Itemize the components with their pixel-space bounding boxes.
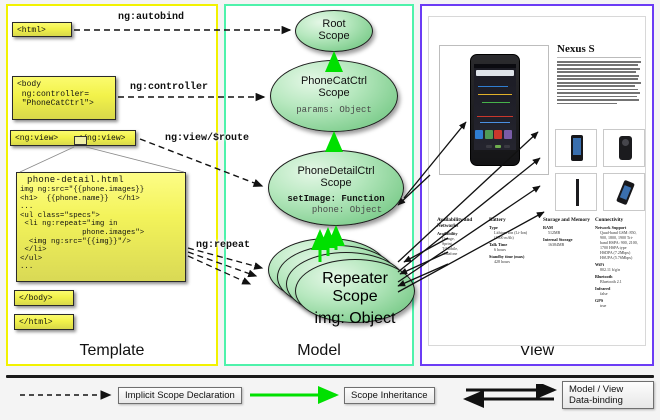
phone-thumbnail-3[interactable]: [555, 173, 597, 211]
connector-label-ng-repeat: ng:repeat: [196, 240, 250, 251]
spec-val-network-5: HSUPA (5.76Mbps): [600, 255, 643, 260]
dock-icon-3: [494, 130, 502, 139]
phone-wallpaper-line-red: [477, 116, 513, 117]
scope-phonedetailctrl-sub: Scope: [269, 177, 403, 189]
spec-val-infrared-0: false: [600, 291, 643, 296]
spec-column-battery: Battery Type Lithium Ion (Li-Ion) (1500 …: [489, 217, 537, 264]
nav-key-menu: [504, 145, 510, 148]
spec-column-battery-header: Battery: [489, 217, 537, 223]
phone-search-widget: [476, 70, 514, 76]
scope-root: Root Scope: [295, 10, 373, 52]
scope-phonecatctrl-sub: Scope: [271, 87, 397, 99]
diagram-canvas: Template Model View <html> <body ng:cont…: [0, 0, 660, 420]
phone-device-illustration: [470, 54, 520, 166]
phone-wallpaper-line-blue2: [480, 122, 510, 123]
scope-phonedetailctrl-prop-phone: phone: Object: [291, 205, 403, 216]
section-model-label: Model: [226, 342, 412, 360]
scope-repeater: Repeater Scope img: Object: [295, 259, 415, 323]
scope-root-sub: Scope: [296, 30, 372, 42]
connector-label-ng-view-route: ng:view/$route: [165, 133, 249, 144]
dock-icon-1: [475, 130, 483, 139]
nav-key-home: [495, 145, 501, 148]
nav-key-back: [486, 145, 492, 148]
connector-label-ng-autobind: ng:autobind: [118, 12, 184, 23]
phone-thumbnail-4[interactable]: [603, 173, 645, 211]
phone-thumbnail-2[interactable]: [603, 129, 645, 167]
spec-column-storage: Storage and Memory RAM 512MB Internal St…: [543, 217, 591, 247]
legend-item-implicit-scope: Implicit Scope Declaration: [118, 384, 242, 406]
spec-val-gps-0: true: [600, 303, 643, 308]
spec-column-availability: Availability and Networks Availability O…: [437, 217, 483, 256]
scope-repeater-sub: Scope: [296, 288, 414, 306]
code-box-body-close: </body>: [14, 290, 74, 306]
dock-icon-4: [504, 130, 512, 139]
connector-label-ng-controller: ng:controller: [130, 82, 208, 93]
code-box-body-open: <body ng:controller= "PhoneCatCtrl">: [12, 76, 116, 120]
ngview-placeholder-slot: [74, 136, 87, 145]
legend-label-scope-inheritance: Scope Inheritance: [344, 387, 435, 404]
spec-val-battery-talktime-0: 6 hours: [494, 247, 537, 252]
phone-wallpaper-line-yellow: [478, 94, 512, 95]
scope-repeater-prop-img: img: Object: [296, 310, 414, 328]
legend-label-implicit-scope: Implicit Scope Declaration: [118, 387, 242, 404]
spec-val-wifi-0: 802.11 b/g/n: [600, 267, 643, 272]
scope-repeater-name: Repeater: [296, 270, 414, 288]
phone-thumbnail-grid: [555, 129, 645, 213]
scope-phonedetailctrl-name: PhoneDetailCtrl: [269, 165, 403, 177]
product-title: Nexus S: [557, 43, 641, 55]
section-template-label: Template: [8, 342, 216, 360]
legend-item-data-binding: Model / View Data-binding: [562, 384, 654, 406]
legend-item-scope-inheritance: Scope Inheritance: [344, 384, 435, 406]
ngview-open-tag: <ng:view>: [15, 134, 58, 143]
spec-column-connectivity: Connectivity Network Support Quad-band G…: [595, 217, 643, 308]
phone-screen: [474, 64, 516, 150]
code-box-ngview: <ng:view> </ng:view>: [10, 130, 136, 146]
phone-detail-source: img ng:src="{{phone.images}} <h1> {{phon…: [17, 186, 185, 272]
phone-detail-filename: phone-detail.html: [17, 173, 185, 186]
spec-column-availability-header: Availability and Networks: [437, 217, 483, 229]
scope-root-name: Root: [296, 18, 372, 30]
legend: Implicit Scope Declaration Scope Inherit…: [6, 384, 654, 410]
spec-val-bluetooth-0: Bluetooth 2.1: [600, 279, 643, 284]
scope-phonecatctrl: PhoneCatCtrl Scope params: Object: [270, 60, 398, 132]
spec-column-connectivity-header: Connectivity: [595, 217, 643, 223]
spec-val-storage-ram-0: 512MB: [548, 230, 591, 235]
legend-divider: [6, 375, 654, 378]
spec-val-battery-standby-0: 428 hours: [494, 259, 537, 264]
scope-phonecatctrl-prop-params: params: Object: [271, 105, 397, 116]
product-description-text: [557, 61, 641, 123]
scope-phonedetailctrl-prop-setimage: setImage: Function: [269, 194, 403, 205]
code-box-html-close: </html>: [14, 314, 74, 330]
phone-statusbar: [474, 64, 516, 68]
legend-label-data-binding: Model / View Data-binding: [562, 381, 654, 409]
spec-column-storage-header: Storage and Memory: [543, 217, 591, 223]
legend-arrow-overlay: [6, 384, 654, 410]
spec-val-battery-type-1: (1500 mAh): [494, 235, 537, 240]
spec-table: Availability and Networks Availability O…: [437, 217, 641, 317]
phone-wallpaper-line-green: [482, 102, 510, 103]
code-box-html-open: <html>: [12, 22, 72, 37]
rendered-view-page: Nexus S: [428, 16, 646, 346]
phone-dock-row: [475, 130, 515, 139]
spec-val-availability-3: Vodafone: [442, 251, 483, 256]
phone-nav-row: [477, 143, 516, 149]
scope-phonecatctrl-name: PhoneCatCtrl: [271, 75, 397, 87]
product-title-rule: [557, 57, 641, 58]
dock-icon-2: [485, 130, 493, 139]
phone-hero-image-frame: [439, 45, 549, 175]
spec-val-storage-internal-0: 16384MB: [548, 242, 591, 247]
scope-phonedetailctrl: PhoneDetailCtrl Scope setImage: Function…: [268, 150, 404, 226]
phone-wallpaper-line-blue: [478, 86, 508, 87]
code-callout-phone-detail: phone-detail.html img ng:src="{{phone.im…: [16, 172, 186, 282]
phone-thumbnail-1[interactable]: [555, 129, 597, 167]
